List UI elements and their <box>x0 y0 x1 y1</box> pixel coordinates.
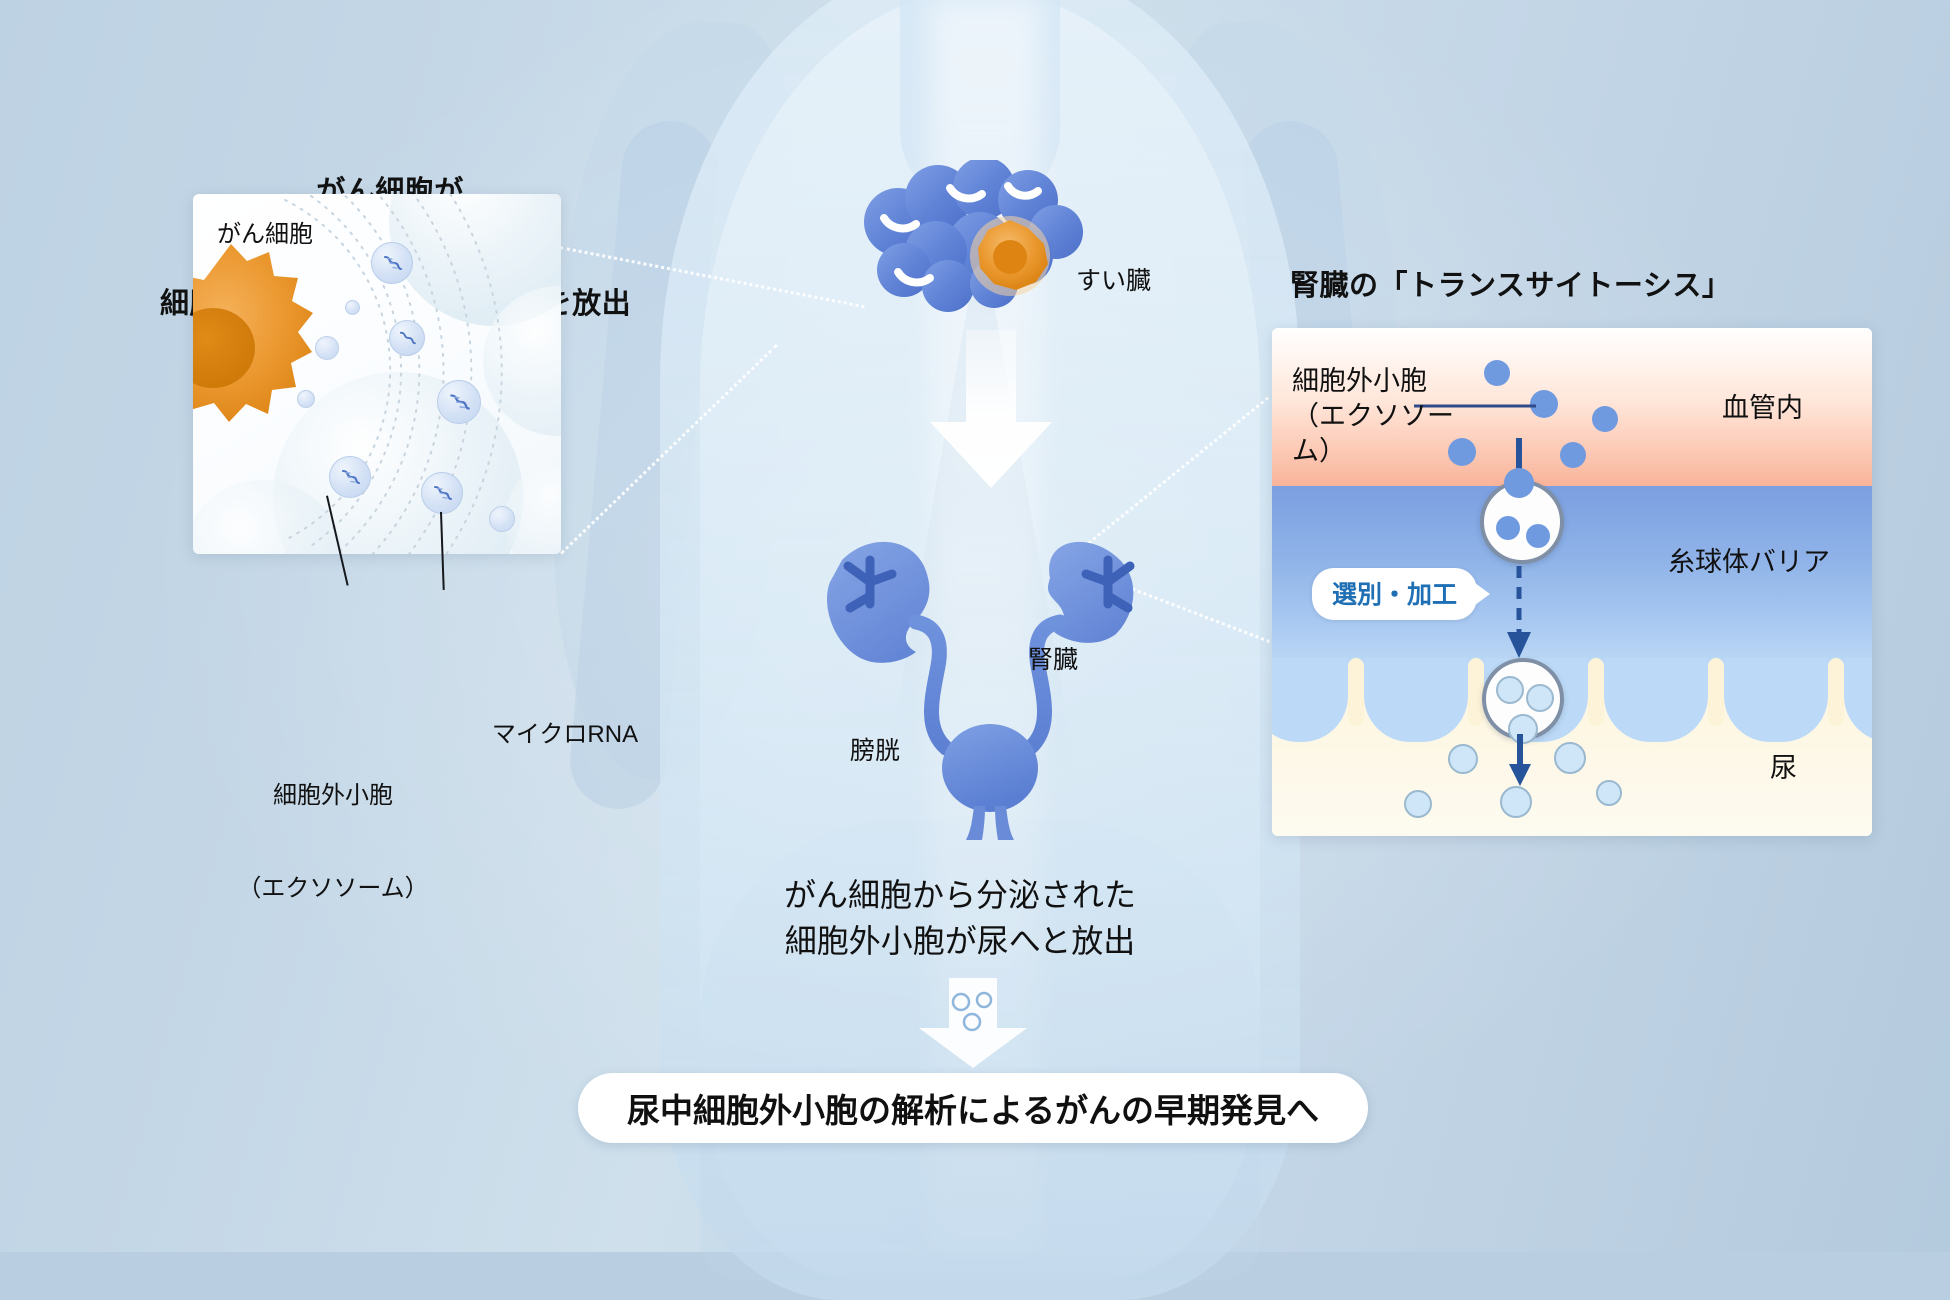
vesicle-with-mirna <box>371 242 413 284</box>
vesicle-in-blood <box>1592 406 1618 432</box>
kidney-transcytosis-panel[interactable]: 選別・加工 細胞外小胞 （エクソソーム） 血管内 糸球体バリア 尿 <box>1272 328 1872 836</box>
vesicle-in-urine <box>1596 780 1622 806</box>
vesicle-in-urine <box>1554 742 1586 774</box>
conclusion-banner[interactable]: 尿中細胞外小胞の解析によるがんの早期発見へ <box>578 1073 1368 1143</box>
vesicle-label-line2: （エクソソーム） <box>1292 399 1492 469</box>
caption-ev-line2: （エクソソーム） <box>198 874 468 905</box>
cargo-vesicle <box>1526 684 1554 712</box>
caption-microrna: マイクロRNA <box>450 720 680 751</box>
cargo-vesicle <box>1526 524 1550 548</box>
kidney-label: 腎臓 <box>1028 644 1078 676</box>
conclusion-banner-text: 尿中細胞外小胞の解析によるがんの早期発見へ <box>627 1084 1319 1132</box>
vesicle-in-urine <box>1500 786 1532 818</box>
podocyte-foot <box>1724 658 1828 742</box>
vesicle-in-urine <box>1448 744 1478 774</box>
podocyte-foot <box>1604 658 1708 742</box>
caption-extracellular-vesicle: 細胞外小胞 （エクソソーム） <box>198 720 468 966</box>
vesicle-in-urine <box>1404 790 1432 818</box>
slit-gap <box>1708 658 1724 726</box>
process-badge: 選別・加工 <box>1312 568 1477 620</box>
zone-label-blood: 血管内 <box>1722 386 1803 425</box>
pancreas-illustration <box>838 160 1118 330</box>
arrow-transcytosis-dashed <box>1504 564 1534 662</box>
flow-arrow-pancreas-to-kidney <box>926 330 1056 490</box>
flow-arrow-to-conclusion <box>916 978 1030 1070</box>
podocyte-foot <box>1364 658 1468 742</box>
right-section-heading: 腎臓の「トランスサイトーシス」 <box>1290 268 1731 305</box>
arrow-release-to-urine <box>1506 732 1534 788</box>
flow-description-text: がん細胞から分泌された 細胞外小胞が尿へと放出 <box>660 872 1260 965</box>
cancer-cell-shape <box>193 240 335 448</box>
vesicle-label-in-panel: 細胞外小胞 （エクソソーム） <box>1292 364 1492 469</box>
flow-text-line1: がん細胞から分泌された <box>660 872 1260 918</box>
vesicle-with-mirna <box>437 380 481 424</box>
cargo-vesicle <box>1496 516 1520 540</box>
kidney-bladder-illustration <box>820 510 1160 840</box>
cancer-cell-inset-label: がん細胞 <box>217 220 313 251</box>
slit-gap <box>1828 658 1844 726</box>
pancreas-label: すい臓 <box>1076 265 1151 297</box>
vesicle-small <box>489 506 515 532</box>
slit-gap <box>1348 658 1364 726</box>
slit-gap <box>1588 658 1604 726</box>
vesicle-with-mirna <box>389 320 425 356</box>
vesicle-small <box>315 336 339 360</box>
vesicle-small <box>345 300 360 315</box>
cargo-vesicle <box>1504 468 1534 498</box>
vesicle-in-blood <box>1560 442 1586 468</box>
cancer-cell-panel[interactable]: がん細胞 <box>193 194 561 554</box>
transcytosis-vesicle-lower <box>1482 658 1564 740</box>
transcytosis-vesicle-upper <box>1480 480 1564 564</box>
flow-text-line2: 細胞外小胞が尿へと放出 <box>660 918 1260 964</box>
bladder-label: 膀胱 <box>850 735 900 767</box>
cargo-vesicle <box>1496 676 1524 704</box>
diagram-canvas: がん細胞が 細胞外小胞（エクソソーム）を放出 <box>0 0 1950 1252</box>
vesicle-label-line1: 細胞外小胞 <box>1292 364 1492 399</box>
vesicle-small <box>297 390 315 408</box>
zone-label-urine: 尿 <box>1770 746 1797 785</box>
zone-label-barrier: 糸球体バリア <box>1668 540 1830 579</box>
vesicle-with-mirna <box>329 456 371 498</box>
vesicle-with-mirna <box>421 472 463 514</box>
caption-ev-line1: 細胞外小胞 <box>198 781 468 812</box>
